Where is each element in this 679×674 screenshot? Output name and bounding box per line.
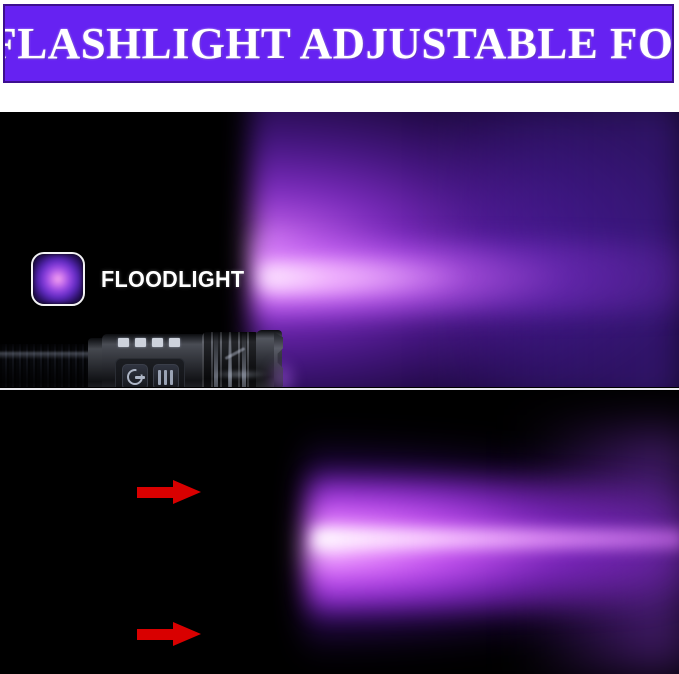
bezel-uv-glow	[264, 356, 300, 388]
tail-highlight	[0, 352, 92, 359]
body-notch-row-top	[118, 338, 180, 347]
barrel-ring	[242, 332, 246, 388]
head-specular-line	[210, 370, 270, 379]
flashlight-knurled-barrel	[202, 332, 262, 388]
header-banner: UV FLASHLIGHT ADJUSTABLE FOCUS	[3, 4, 674, 83]
label-floodlight: FLOODLIGHT	[31, 252, 253, 306]
zoom-arrow-top-icon	[137, 480, 201, 504]
notch	[135, 338, 146, 347]
panel-floodlight: FLOODLIGHT	[0, 112, 679, 388]
swatch-glow	[33, 254, 83, 304]
barrel-ring	[214, 332, 218, 388]
focus-beam-far-field	[520, 431, 679, 671]
floodlight-beam-hotspot	[262, 262, 472, 292]
notch	[169, 338, 180, 347]
arrow-shaft	[137, 629, 177, 640]
battery-bars-icon	[158, 370, 173, 385]
flashlight-tail-grip	[0, 344, 92, 388]
flood-beam-swatch-icon	[31, 252, 85, 306]
focus-beam-core	[312, 479, 679, 609]
zoom-arrow-bottom-icon	[137, 622, 201, 646]
focus-beam-hotspot	[314, 529, 679, 549]
battery-indicator-button[interactable]	[153, 364, 179, 388]
arrow-shaft	[137, 487, 177, 498]
notch	[118, 338, 129, 347]
flashlight-body	[102, 334, 206, 388]
power-icon	[127, 369, 143, 385]
arrow-head	[173, 480, 201, 504]
notch	[152, 338, 163, 347]
button-plate	[115, 358, 185, 388]
floodlight-label-text: FLOODLIGHT	[101, 266, 244, 293]
flashlight-floodlight	[0, 330, 288, 388]
arrow-head	[173, 622, 201, 646]
floodlight-beam-spread	[250, 112, 679, 388]
floodlight-beam-core	[258, 240, 679, 316]
panel-focus: FOCUS	[0, 391, 679, 674]
focus-beam-spread	[305, 421, 679, 671]
barrel-ring	[228, 332, 232, 388]
power-button[interactable]	[122, 364, 148, 388]
product-image-canvas: UV FLASHLIGHT ADJUSTABLE FOCUS	[0, 0, 679, 674]
page-title: UV FLASHLIGHT ADJUSTABLE FOCUS	[3, 18, 674, 69]
floodlight-beam-far-field	[430, 112, 679, 388]
